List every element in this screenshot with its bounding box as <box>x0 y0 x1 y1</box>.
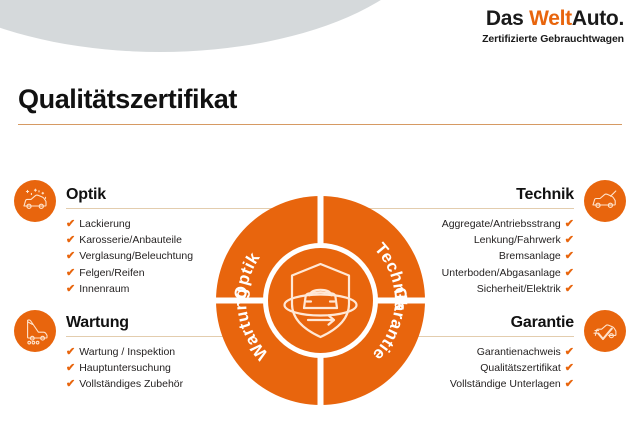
wrench-car-icon <box>14 310 56 352</box>
list-item-label: Wartung / Inspektion <box>79 346 175 358</box>
list-item-label: Innenraum <box>79 283 129 295</box>
check-icon: ✔ <box>565 265 574 281</box>
list-item-label: Qualitätszertifikat <box>480 362 561 374</box>
wartung-badge <box>14 310 56 352</box>
list-item-label: Karosserie/Anbauteile <box>79 234 182 246</box>
brand-logo-wordmark: Das WeltAuto. <box>482 8 624 29</box>
brand-logo-auto: Auto. <box>572 7 624 30</box>
car-check-icon <box>584 310 626 352</box>
check-icon: ✔ <box>565 232 574 248</box>
check-icon: ✔ <box>66 265 75 281</box>
car-sparkle-icon <box>14 180 56 222</box>
garantie-badge <box>584 310 626 352</box>
quadrant-wheel: Optik Technik Garantie Wartung <box>216 196 425 405</box>
brand-logo-das: Das <box>486 7 529 30</box>
check-icon: ✔ <box>565 344 574 360</box>
check-icon: ✔ <box>66 376 75 392</box>
center-wheel-graphic: Optik Technik Garantie Wartung <box>216 196 425 405</box>
check-icon: ✔ <box>66 344 75 360</box>
check-icon: ✔ <box>565 248 574 264</box>
list-item-label: Vollständiges Zubehör <box>79 378 183 390</box>
optik-badge <box>14 180 56 222</box>
list-item-label: Aggregate/Antriebsstrang <box>442 218 561 230</box>
brand-logo-welt: Welt <box>529 7 572 30</box>
list-item-label: Lenkung/Fahrwerk <box>474 234 561 246</box>
title-divider <box>18 124 622 125</box>
check-icon: ✔ <box>66 360 75 376</box>
check-icon: ✔ <box>565 360 574 376</box>
check-icon: ✔ <box>66 281 75 297</box>
list-item-label: Sicherheit/Elektrik <box>477 283 561 295</box>
list-item-label: Vollständige Unterlagen <box>450 378 561 390</box>
brand-logo: Das WeltAuto. Zertifizierte Gebrauchtwag… <box>482 8 624 45</box>
list-item-label: Bremsanlage <box>499 250 561 262</box>
list-item-label: Felgen/Reifen <box>79 267 144 279</box>
page-title: Qualitätszertifikat <box>18 84 237 115</box>
gray-swoosh-decoration <box>0 0 440 52</box>
list-item-label: Unterboden/Abgasanlage <box>442 267 561 279</box>
check-icon: ✔ <box>66 232 75 248</box>
check-icon: ✔ <box>66 248 75 264</box>
list-item-label: Hauptuntersuchung <box>79 362 171 374</box>
list-item-label: Garantienachweis <box>477 346 561 358</box>
list-item-label: Verglasung/Beleuchtung <box>79 250 193 262</box>
technik-badge <box>584 180 626 222</box>
car-outline-icon <box>584 180 626 222</box>
brand-logo-subtitle: Zertifizierte Gebrauchtwagen <box>482 34 624 45</box>
certificate-page: Das WeltAuto. Zertifizierte Gebrauchtwag… <box>0 0 640 425</box>
check-icon: ✔ <box>66 216 75 232</box>
check-icon: ✔ <box>565 376 574 392</box>
check-icon: ✔ <box>565 281 574 297</box>
list-item-label: Lackierung <box>79 218 130 230</box>
check-icon: ✔ <box>565 216 574 232</box>
